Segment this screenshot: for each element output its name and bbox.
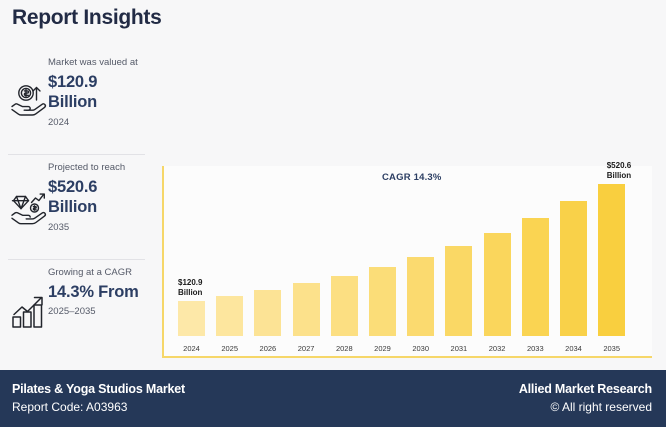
insight-caption: Market was valued at xyxy=(48,56,151,70)
insight-card-body: Market was valued at $120.9 Billion 2024 xyxy=(48,56,155,130)
x-tick-2032: 2032 xyxy=(480,344,514,353)
bar-rect-2031 xyxy=(445,246,472,336)
bar-rect-2033 xyxy=(522,218,549,336)
bar-rect-2035: $520.6 Billion xyxy=(598,184,625,336)
x-tick-2030: 2030 xyxy=(404,344,438,353)
hand-holding-diamond-growth-icon xyxy=(8,185,52,227)
footer-bar: Pilates & Yoga Studios Market Report Cod… xyxy=(0,370,666,427)
x-tick-2034: 2034 xyxy=(557,344,591,353)
x-tick-2026: 2026 xyxy=(251,344,285,353)
footer-company-info: Allied Market Research © All right reser… xyxy=(519,380,652,416)
x-tick-2033: 2033 xyxy=(518,344,552,353)
hand-holding-dollar-coin-up-arrow-icon xyxy=(8,80,52,122)
insight-period: 2035 xyxy=(48,220,151,235)
insight-value: $520.6 xyxy=(48,177,151,197)
bar-value-label-2035: $520.6 Billion xyxy=(571,161,631,181)
bar-rect-2034 xyxy=(560,201,587,336)
insight-period: 2024 xyxy=(48,115,151,130)
insight-value: 14.3% From xyxy=(48,282,151,302)
insight-caption: Projected to reach xyxy=(48,161,151,175)
growth-bar-chart: CAGR 14.3% $120.9 Billion202420252026202… xyxy=(162,166,652,358)
footer-copyright: © All right reserved xyxy=(519,398,652,416)
footer-report-info: Pilates & Yoga Studios Market Report Cod… xyxy=(12,380,185,416)
bar-rect-2027 xyxy=(293,283,320,336)
chart-plot-area: $120.9 Billion20242025202620272028202920… xyxy=(178,174,648,336)
insight-card-cagr: Growing at a CAGR 14.3% From 2025–2035 xyxy=(0,260,155,364)
bar-rect-2025 xyxy=(216,296,243,336)
bar-rect-2026 xyxy=(254,290,281,336)
x-tick-2025: 2025 xyxy=(213,344,247,353)
bar-rect-2028 xyxy=(331,276,358,336)
x-tick-2029: 2029 xyxy=(366,344,400,353)
footer-report-name: Pilates & Yoga Studios Market xyxy=(12,380,185,398)
bar-rect-2032 xyxy=(484,233,511,336)
insight-card-projected-value: Projected to reach $520.6 Billion 2035 xyxy=(0,155,155,259)
insight-caption: Growing at a CAGR xyxy=(48,266,151,280)
insight-card-body: Projected to reach $520.6 Billion 2035 xyxy=(48,161,155,235)
x-tick-2035: 2035 xyxy=(595,344,629,353)
x-tick-2028: 2028 xyxy=(327,344,361,353)
insight-unit: Billion xyxy=(48,92,151,113)
x-tick-2027: 2027 xyxy=(289,344,323,353)
insight-unit: Billion xyxy=(48,197,151,218)
insight-card-market-value: Market was valued at $120.9 Billion 2024 xyxy=(0,50,155,154)
x-tick-2024: 2024 xyxy=(175,344,209,353)
insight-period: 2025–2035 xyxy=(48,304,151,319)
bar-rect-2029 xyxy=(369,267,396,336)
insight-value: $120.9 xyxy=(48,72,151,92)
bar-rect-2030 xyxy=(407,257,434,336)
footer-company-name: Allied Market Research xyxy=(519,380,652,398)
insight-card-body: Growing at a CAGR 14.3% From 2025–2035 xyxy=(48,266,155,319)
footer-report-code: Report Code: A03963 xyxy=(12,398,185,416)
insights-panel: Market was valued at $120.9 Billion 2024… xyxy=(0,50,155,364)
bar-chart-up-arrow-icon xyxy=(8,290,52,332)
x-tick-2031: 2031 xyxy=(442,344,476,353)
page-title: Report Insights xyxy=(12,6,162,30)
bar-rect-2024: $120.9 Billion xyxy=(178,301,205,336)
